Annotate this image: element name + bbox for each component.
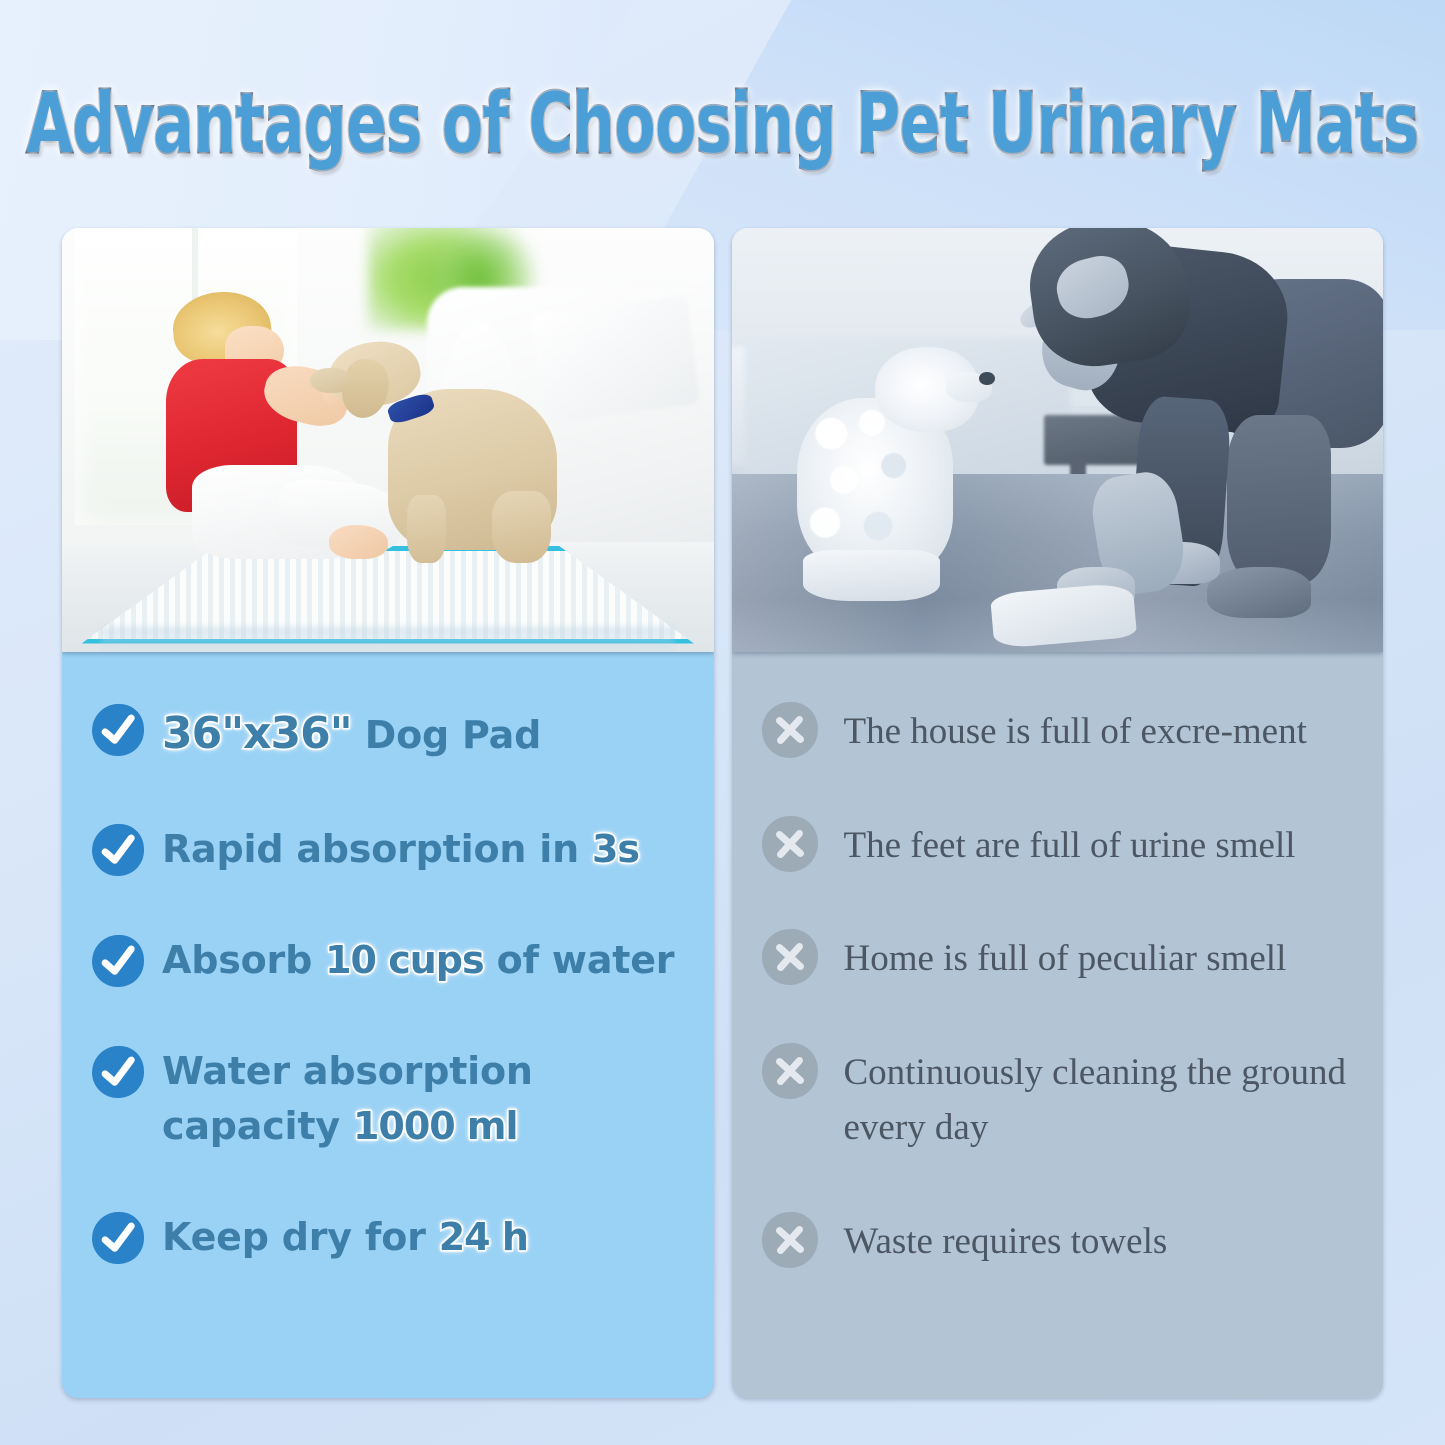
advantage-text: Absorb 10 cups of water	[162, 931, 674, 988]
advantage-text: Water absorption capacity 1000 ml	[162, 1042, 688, 1154]
advantage-highlight: 24 h	[439, 1215, 528, 1259]
poodle-nose	[979, 372, 995, 385]
woman-shoe	[1207, 567, 1311, 618]
x-circle-icon	[760, 701, 819, 760]
advantages-photo	[62, 228, 714, 652]
puppy-snout	[310, 368, 349, 393]
list-item: Absorb 10 cups of water	[92, 931, 688, 988]
disadvantages-photo	[732, 228, 1384, 652]
advantage-text: 36"x36" Dog Pad	[162, 700, 541, 766]
comparison-columns: 36"x36" Dog Pad Rapid absorption in 3s A…	[62, 228, 1383, 1398]
sofa-cushion	[531, 295, 700, 423]
disadvantage-text: Home is full of peculiar smell	[844, 927, 1287, 987]
advantage-highlight: 3s	[592, 827, 639, 871]
advantages-column: 36"x36" Dog Pad Rapid absorption in 3s A…	[62, 228, 714, 1398]
page-title-container: Advantages of Choosing Pet Urinary Mats	[0, 76, 1445, 146]
mat-reflection	[101, 627, 674, 652]
disadvantage-text: The house is full of excre-ment	[844, 700, 1307, 760]
advantage-text: Rapid absorption in 3s	[162, 820, 639, 877]
check-circle-icon	[90, 822, 146, 878]
disadvantage-text: The feet are full of urine smell	[844, 814, 1296, 874]
check-circle-icon	[90, 1210, 146, 1266]
advantage-pre: Keep dry for	[162, 1215, 439, 1259]
list-item: Waste requires towels	[762, 1210, 1358, 1270]
check-circle-icon	[90, 1044, 146, 1100]
disadvantages-column: The house is full of excre-ment The feet…	[732, 228, 1384, 1398]
x-circle-icon	[760, 1210, 819, 1269]
x-circle-icon	[760, 814, 819, 873]
list-item: Keep dry for 24 h	[92, 1208, 688, 1265]
advantage-post: Dog Pad	[352, 713, 541, 757]
list-item: The feet are full of urine smell	[762, 814, 1358, 874]
check-circle-icon	[90, 933, 146, 989]
list-item: Water absorption capacity 1000 ml	[92, 1042, 688, 1154]
advantage-post: of water	[484, 938, 675, 982]
list-item: Continuously cleaning the ground every d…	[762, 1041, 1358, 1156]
x-circle-icon	[760, 1041, 819, 1100]
puppy-back-leg	[492, 491, 551, 563]
list-item: The house is full of excre-ment	[762, 700, 1358, 760]
list-item: Home is full of peculiar smell	[762, 927, 1358, 987]
puppy-front-leg	[407, 495, 446, 563]
advantages-list: 36"x36" Dog Pad Rapid absorption in 3s A…	[62, 652, 714, 1398]
disadvantage-text: Continuously cleaning the ground every d…	[844, 1041, 1358, 1156]
advantage-pre: Rapid absorption in	[162, 827, 592, 871]
advantage-highlight: 1000 ml	[353, 1104, 518, 1148]
list-item: 36"x36" Dog Pad	[92, 700, 688, 766]
poodle-legs	[803, 550, 940, 601]
check-circle-icon	[90, 702, 146, 758]
disadvantage-text: Waste requires towels	[844, 1210, 1168, 1270]
advantage-highlight: 36"x36"	[162, 708, 352, 759]
list-item: Rapid absorption in 3s	[92, 820, 688, 877]
advantage-text: Keep dry for 24 h	[162, 1208, 528, 1265]
boy-foot	[329, 525, 388, 559]
advantage-highlight: 10 cups	[325, 938, 484, 982]
x-circle-icon	[760, 928, 819, 987]
woman-back-leg	[1227, 415, 1331, 585]
disadvantages-list: The house is full of excre-ment The feet…	[732, 652, 1384, 1398]
advantage-pre: Absorb	[162, 938, 325, 982]
page-title: Advantages of Choosing Pet Urinary Mats	[26, 76, 1418, 173]
